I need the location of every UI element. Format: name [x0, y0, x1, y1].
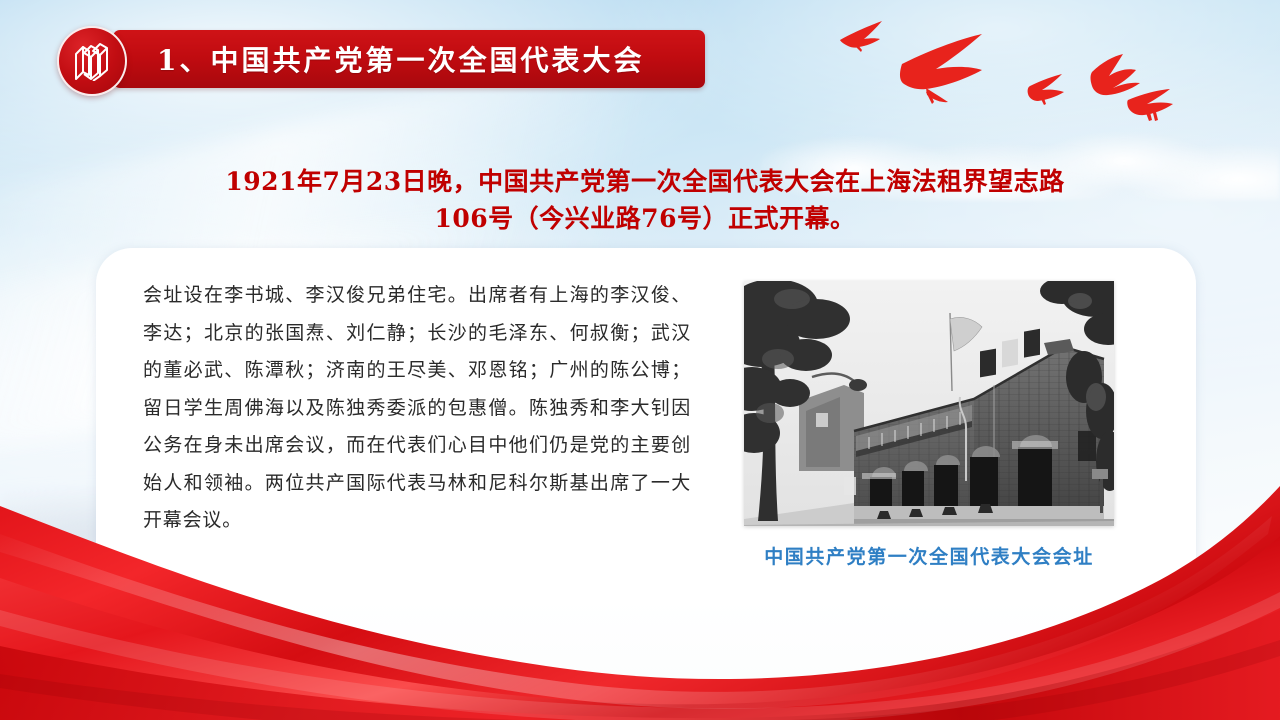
bird-icon — [1028, 74, 1064, 105]
slide-root: 1、中国共产党第一次全国代表大会 1921年7月23日晚，中国共产党第一次全国代… — [0, 0, 1280, 720]
body-paragraph: 会址设在李书城、李汉俊兄弟住宅。出席者有上海的李汉俊、李达；北京的张国焘、刘仁静… — [143, 277, 691, 540]
bird-icon — [1127, 89, 1173, 121]
figure-caption: 中国共产党第一次全国代表大会会址 — [744, 542, 1114, 569]
slide-subtitle: 1921年7月23日晚，中国共产党第一次全国代表大会在上海法租界望志路 106号… — [150, 163, 1140, 237]
bird-icon — [840, 21, 882, 52]
bird-icon — [900, 34, 982, 104]
page-title: 1、中国共产党第一次全国代表大会 — [157, 39, 644, 79]
section-title-bar: 1、中国共产党第一次全国代表大会 — [113, 30, 705, 88]
books-stack-icon — [57, 26, 127, 96]
bird-icon — [1091, 54, 1141, 95]
congress-site-photo — [744, 281, 1114, 526]
flying-birds-decoration — [830, 10, 1280, 170]
subtitle-line-2: 106号（今兴业路76号）正式开幕。 — [150, 200, 1140, 237]
subtitle-line-1: 1921年7月23日晚，中国共产党第一次全国代表大会在上海法租界望志路 — [150, 163, 1140, 200]
